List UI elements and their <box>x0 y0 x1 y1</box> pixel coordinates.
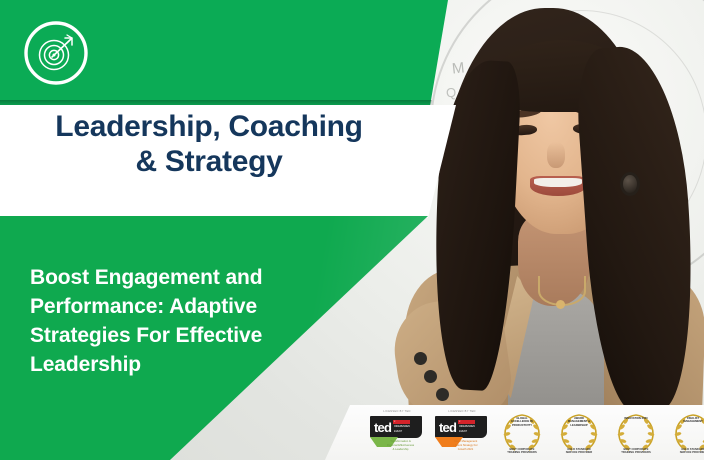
award-badge-caption: BEST CORPORATE TRAINING PROVIDERS <box>613 448 659 455</box>
ted-wordmark: ted <box>374 421 391 434</box>
award-badge: FINALIST MANAGEMENT GOLD STANDARD SERVIC… <box>669 410 704 457</box>
necklace-pendant <box>556 300 565 309</box>
page-title: Leadership, Coaching & Strategy <box>0 110 418 180</box>
award-badge-caption: GOLD STANDARD SERVICE PROVIDER <box>670 448 704 455</box>
nose <box>547 142 565 168</box>
ted-badge-caption: Talent Management • Talent Strategy For … <box>442 440 489 452</box>
teeth <box>534 178 582 187</box>
award-badge-title: AWARD MANAGEMENT & LEADERSHIP <box>566 417 592 428</box>
subtitle-text: Boost Engagement and Performance: Adapti… <box>30 264 330 380</box>
award-badge: INNOVATION 2020 BEST CORPORATE TRAINING … <box>612 410 660 457</box>
award-badge-title: GLOBAL EXCELLENCE IN PRODUCTIVITY <box>509 417 535 428</box>
video-thumbnail-banner: M Q <box>0 0 704 460</box>
blazer-button <box>424 370 437 383</box>
ted-badge: LICENSED BY TED ted x INDEPENDENT EVENT … <box>433 410 489 456</box>
smiling-mouth <box>530 176 586 196</box>
award-badge-caption: GOLD STANDARD SERVICE PROVIDER <box>556 448 602 455</box>
ted-mini-line: x <box>393 420 410 424</box>
ted-badge: LICENSED BY TED ted x INDEPENDENT EVENT … <box>368 410 424 456</box>
earring <box>620 172 640 196</box>
award-badge: GLOBAL EXCELLENCE IN PRODUCTIVITY BEST C… <box>498 410 546 457</box>
ted-badge-box: ted x INDEPENDENT EVENT <box>435 416 487 438</box>
badge-list: LICENSED BY TED ted x INDEPENDENT EVENT … <box>368 409 704 457</box>
blazer-button <box>436 388 449 401</box>
ted-mini-line: x <box>458 420 475 424</box>
award-badge: AWARD MANAGEMENT & LEADERSHIP GOLD STAND… <box>555 410 603 457</box>
ted-wordmark: ted <box>439 421 456 434</box>
ted-badge-top-label: LICENSED BY TED <box>437 410 487 413</box>
ted-badge-caption: Transformation & Personal Effectiveness … <box>377 440 424 452</box>
ted-mini-line: EVENT <box>458 430 475 434</box>
blazer-button <box>414 352 427 365</box>
ted-mini-line: INDEPENDENT <box>393 425 410 429</box>
ted-mini-line: EVENT <box>393 430 410 434</box>
ted-badge-box: ted x INDEPENDENT EVENT <box>370 416 422 438</box>
award-badge-title: FINALIST MANAGEMENT <box>680 417 704 425</box>
ted-badge-top-label: LICENSED BY TED <box>372 410 422 413</box>
presenter-portrait <box>390 0 704 430</box>
ted-mini-line: INDEPENDENT <box>458 425 475 429</box>
ted-badge-mini-lines: x INDEPENDENT EVENT <box>458 420 475 434</box>
ted-badge-mini-lines: x INDEPENDENT EVENT <box>393 420 410 434</box>
target-arrow-icon <box>21 18 91 88</box>
award-badge-title: INNOVATION 2020 <box>623 417 649 421</box>
award-badge-caption: BEST CORPORATE TRAINING PROVIDERS <box>499 448 545 455</box>
